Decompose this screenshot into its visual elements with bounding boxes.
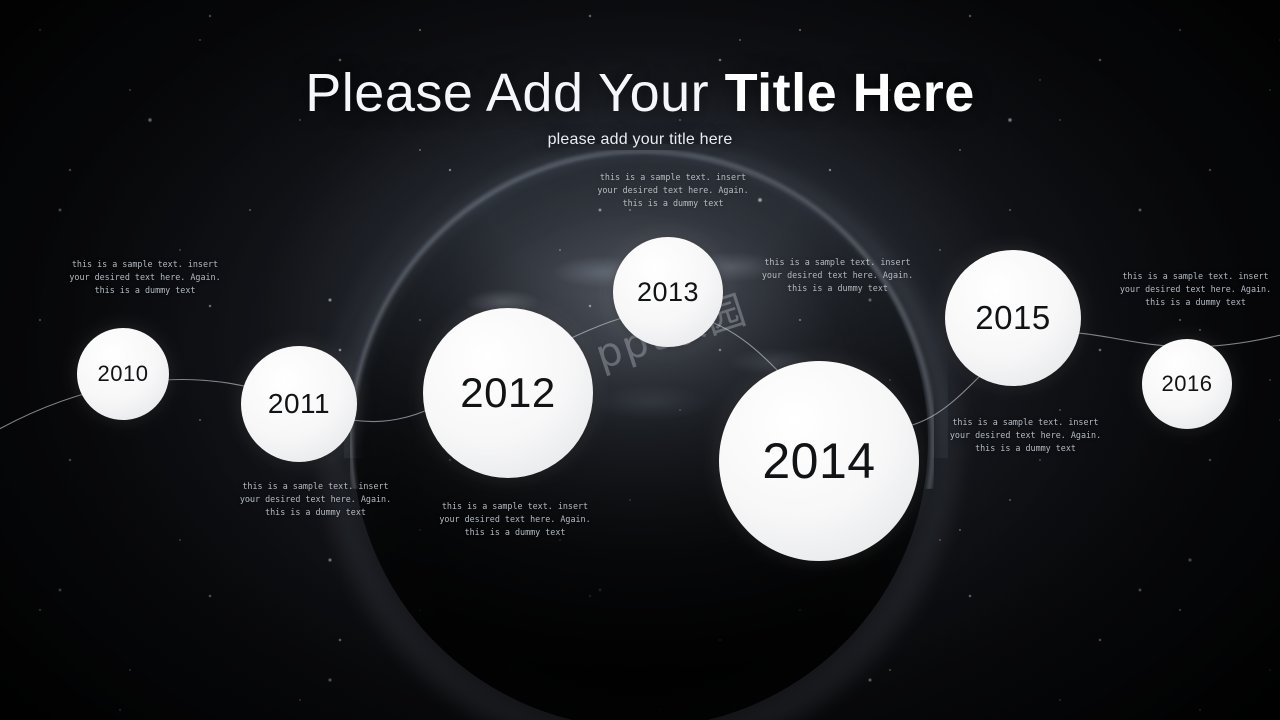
caption-line: this is a sample text. insert — [1108, 270, 1280, 283]
caption-line: this is a dummy text — [583, 197, 763, 210]
caption-line: your desired text here. Again. — [938, 429, 1113, 442]
milestone-caption-2015: this is a sample text. insertyour desire… — [938, 416, 1113, 455]
milestone-bubble-2013[interactable]: 2013 — [613, 237, 723, 347]
caption-line: this is a sample text. insert — [228, 480, 403, 493]
milestone-bubble-2011[interactable]: 2011 — [241, 346, 357, 462]
caption-line: your desired text here. Again. — [228, 493, 403, 506]
caption-line: this is a sample text. insert — [583, 171, 763, 184]
milestone-year-label: 2016 — [1162, 371, 1213, 397]
caption-line: your desired text here. Again. — [425, 513, 605, 526]
milestone-year-label: 2010 — [98, 361, 149, 387]
milestone-bubble-2012[interactable]: 2012 — [423, 308, 593, 478]
milestone-bubble-2015[interactable]: 2015 — [945, 250, 1081, 386]
caption-line: this is a sample text. insert — [425, 500, 605, 513]
milestone-year-label: 2013 — [637, 277, 699, 308]
milestone-bubble-2016[interactable]: 2016 — [1142, 339, 1232, 429]
milestone-year-label: 2011 — [268, 388, 330, 420]
slide-canvas: ppt家园 Please Add Your Title Here please … — [0, 0, 1280, 720]
milestone-bubble-2010[interactable]: 2010 — [77, 328, 169, 420]
milestone-caption-2014: this is a sample text. insertyour desire… — [740, 256, 935, 295]
caption-line: your desired text here. Again. — [60, 271, 230, 284]
page-title: Please Add Your Title Here — [0, 62, 1280, 124]
milestone-year-label: 2012 — [460, 369, 555, 417]
caption-line: your desired text here. Again. — [740, 269, 935, 282]
page-title-bold: Title Here — [725, 63, 975, 123]
milestone-caption-2013: this is a sample text. insertyour desire… — [583, 171, 763, 210]
milestone-year-label: 2015 — [975, 299, 1050, 337]
caption-line: this is a dummy text — [228, 506, 403, 519]
caption-line: your desired text here. Again. — [583, 184, 763, 197]
page-title-regular: Please Add Your — [305, 63, 724, 123]
caption-line: this is a dummy text — [60, 284, 230, 297]
caption-line: this is a sample text. insert — [938, 416, 1113, 429]
milestone-caption-2012: this is a sample text. insertyour desire… — [425, 500, 605, 539]
page-subtitle: please add your title here — [0, 131, 1280, 149]
milestone-caption-2016: this is a sample text. insertyour desire… — [1108, 270, 1280, 309]
milestone-caption-2010: this is a sample text. insertyour desire… — [60, 258, 230, 297]
caption-line: this is a dummy text — [425, 526, 605, 539]
caption-line: this is a dummy text — [740, 282, 935, 295]
caption-line: this is a dummy text — [938, 442, 1113, 455]
milestone-bubble-2014[interactable]: 2014 — [719, 361, 919, 561]
milestone-caption-2011: this is a sample text. insertyour desire… — [228, 480, 403, 519]
milestone-year-label: 2014 — [762, 432, 875, 490]
caption-line: this is a sample text. insert — [740, 256, 935, 269]
caption-line: this is a sample text. insert — [60, 258, 230, 271]
caption-line: your desired text here. Again. — [1108, 283, 1280, 296]
caption-line: this is a dummy text — [1108, 296, 1280, 309]
